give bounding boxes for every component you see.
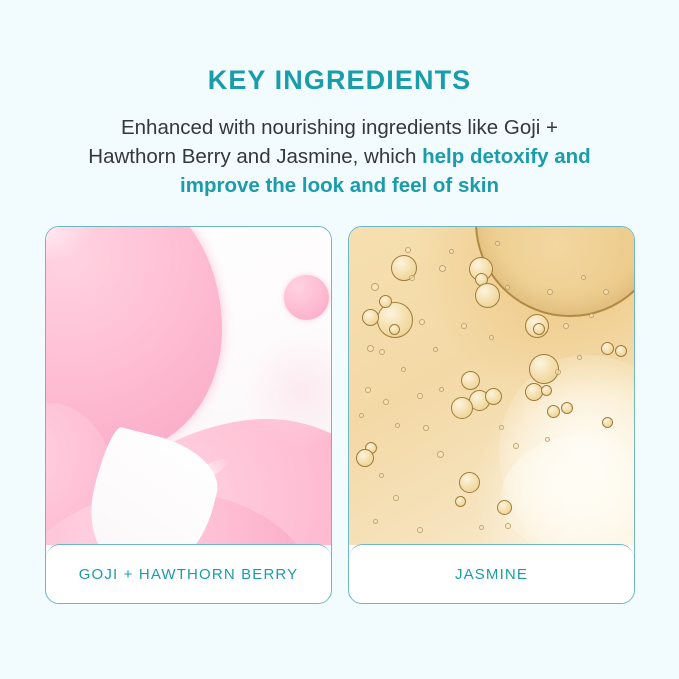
bubble [529,354,559,384]
goji-caption-box: GOJI + HAWTHORN BERRY [46,544,331,603]
golden-oil-artwork [349,227,634,545]
bubble [362,309,379,326]
bubble [451,397,473,419]
micro-bubble [495,241,500,246]
ingredient-card-goji[interactable]: GOJI + HAWTHORN BERRY [45,226,332,604]
micro-bubble [423,425,429,431]
bubble [389,324,400,335]
micro-bubble [371,283,379,291]
micro-bubble [437,451,444,458]
micro-bubble [505,285,510,290]
micro-bubble [379,349,385,355]
micro-bubble [433,347,438,352]
micro-bubble [383,399,389,405]
micro-bubble [373,519,378,524]
bubble [475,283,500,308]
micro-bubble [461,323,467,329]
micro-bubble [581,275,586,280]
micro-bubble [449,249,454,254]
bubble [485,388,502,405]
bubble [615,345,627,357]
bubble [533,323,545,335]
micro-bubble [499,425,504,430]
micro-bubble [419,319,425,325]
micro-bubble [379,473,384,478]
micro-bubble [513,443,519,449]
micro-bubble [395,423,400,428]
bubble [455,496,466,507]
micro-bubble [401,367,406,372]
bubble [497,500,512,515]
bubble [601,342,614,355]
micro-bubble [367,345,374,352]
bubble [602,417,613,428]
micro-bubble [563,323,569,329]
micro-bubble [555,369,561,375]
micro-bubble [439,265,446,272]
pink-fluid-artwork [46,227,331,545]
goji-image [46,227,331,545]
micro-bubble [547,289,553,295]
micro-bubble [365,387,371,393]
jasmine-caption-box: JASMINE [349,544,634,603]
goji-caption-label: GOJI + HAWTHORN BERRY [79,566,299,583]
page-title: KEY INGREDIENTS [0,65,679,96]
micro-bubble [409,275,415,281]
micro-bubble [417,393,423,399]
jasmine-caption-label: JASMINE [455,566,528,583]
bubble [461,371,480,390]
bubble [541,385,552,396]
micro-bubble [603,289,609,295]
bubble [459,472,480,493]
jasmine-image [349,227,634,545]
micro-bubble [405,247,411,253]
bubble [547,405,560,418]
ingredient-card-jasmine[interactable]: JASMINE [348,226,635,604]
micro-bubble [359,413,364,418]
micro-bubble [393,495,399,501]
bubble [379,295,392,308]
bubble [356,449,374,467]
micro-bubble [589,313,594,318]
bubble [561,402,573,414]
intro-paragraph: Enhanced with nourishing ingredients lik… [78,113,601,200]
micro-bubble [545,437,550,442]
micro-bubble [489,335,494,340]
micro-bubble [577,355,582,360]
key-ingredients-panel: KEY INGREDIENTS Enhanced with nourishing… [0,0,679,679]
ingredient-card-list: GOJI + HAWTHORN BERRY [45,226,635,604]
micro-bubble [417,527,423,533]
micro-bubble [505,523,511,529]
pink-blob-small-dot [284,275,329,320]
micro-bubble [479,525,484,530]
micro-bubble [439,387,444,392]
